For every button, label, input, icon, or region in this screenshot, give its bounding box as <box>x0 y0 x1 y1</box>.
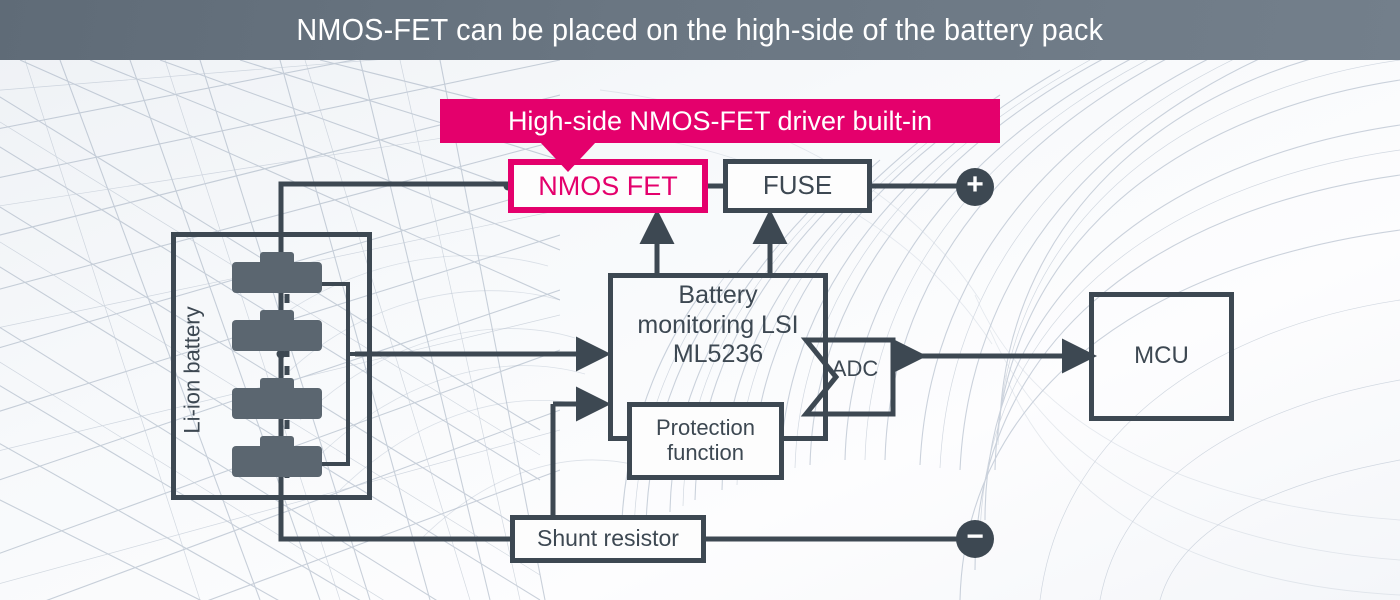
callout-banner: High-side NMOS-FET driver built-in <box>440 99 1000 143</box>
shunt-resistor-block[interactable]: Shunt resistor <box>510 515 706 563</box>
negative-terminal: − <box>956 520 994 558</box>
mcu-label: MCU <box>1134 343 1189 370</box>
battery-cell-icon <box>232 310 322 351</box>
fuse-block[interactable]: FUSE <box>723 159 872 213</box>
lsi-label-line3: ML5236 <box>608 340 828 370</box>
fuse-label: FUSE <box>763 171 832 200</box>
lsi-label-line2: monitoring LSI <box>608 311 828 341</box>
protection-function-block[interactable]: Protection function <box>627 402 784 480</box>
mcu-block[interactable]: MCU <box>1089 292 1234 421</box>
diagram-canvas: NMOS-FET can be placed on the high-side … <box>0 0 1400 600</box>
nmos-fet-label: NMOS FET <box>538 171 678 201</box>
callout-text: High-side NMOS-FET driver built-in <box>508 106 932 137</box>
nmos-fet-block[interactable]: NMOS FET <box>508 159 708 213</box>
battery-label-text: Li-ion battery <box>180 306 206 433</box>
protection-label-line1: Protection <box>656 416 755 441</box>
positive-terminal: + <box>956 168 994 206</box>
adc-label: ADC <box>812 356 898 382</box>
battery-cell-icon <box>232 436 322 477</box>
protection-label-line2: function <box>656 441 755 466</box>
battery-cell-icon <box>232 378 322 419</box>
battery-cell-icons <box>232 252 332 484</box>
lsi-label-group: Battery monitoring LSI ML5236 <box>608 281 828 370</box>
shunt-resistor-label: Shunt resistor <box>537 526 679 552</box>
minus-icon: − <box>966 522 984 552</box>
battery-cell-icon <box>232 252 322 293</box>
lsi-label-line1: Battery <box>608 281 828 311</box>
battery-label: Li-ion battery <box>173 280 213 460</box>
plus-icon: + <box>966 170 984 200</box>
